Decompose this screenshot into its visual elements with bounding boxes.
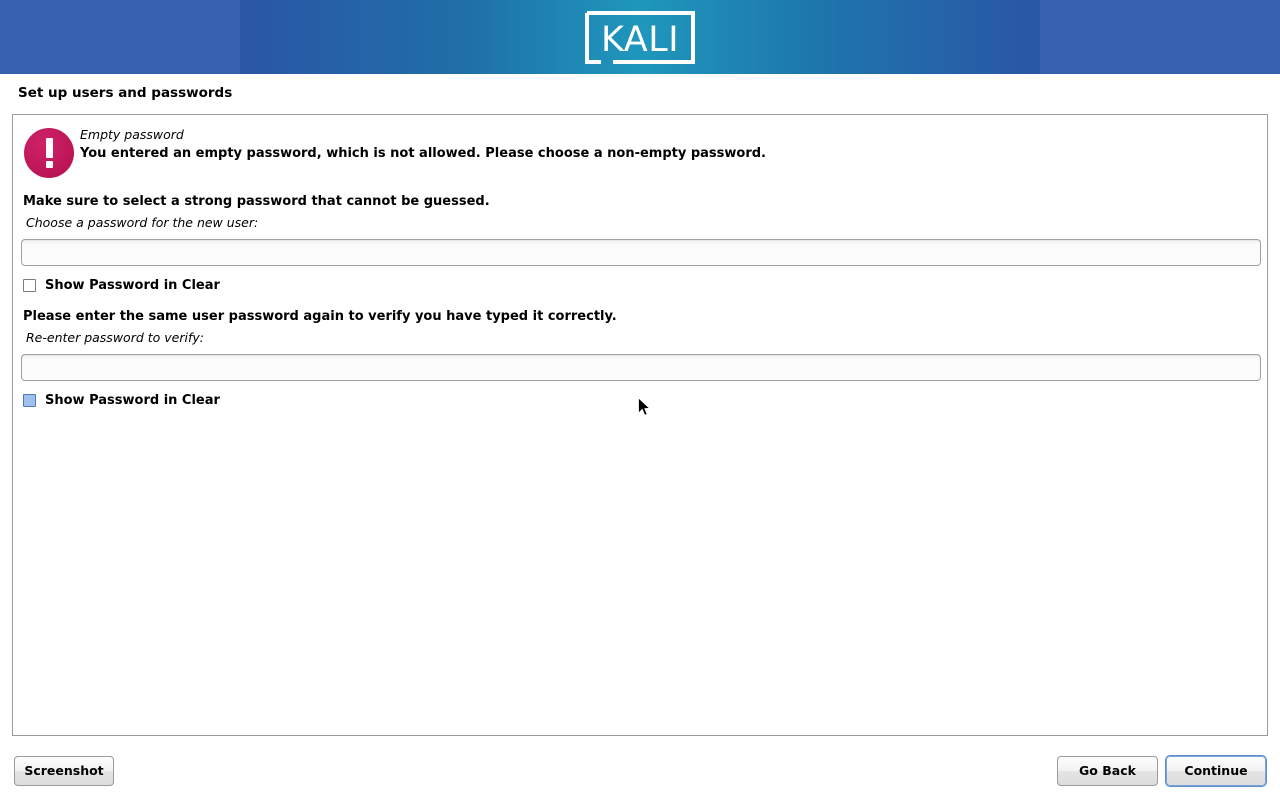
show-password-checkbox-1-label: Show Password in Clear bbox=[45, 278, 220, 293]
svg-text:KALI: KALI bbox=[601, 20, 679, 60]
error-notice: Empty password You entered an empty pass… bbox=[13, 115, 1267, 179]
page-title: Set up users and passwords bbox=[18, 85, 232, 101]
password-input[interactable] bbox=[21, 239, 1261, 266]
show-password-checkbox-2-label: Show Password in Clear bbox=[45, 393, 220, 408]
error-exclamation-icon bbox=[24, 128, 74, 178]
verify-password-input[interactable] bbox=[21, 354, 1261, 381]
main-content-panel: Empty password You entered an empty pass… bbox=[12, 114, 1268, 736]
error-message: You entered an empty password, which is … bbox=[80, 146, 766, 161]
continue-button[interactable]: Continue bbox=[1166, 756, 1266, 786]
show-password-in-clear-row-2[interactable]: Show Password in Clear bbox=[23, 392, 220, 408]
verify-heading: Please enter the same user password agai… bbox=[23, 309, 617, 324]
password-heading: Make sure to select a strong password th… bbox=[23, 194, 490, 209]
show-password-checkbox-1[interactable] bbox=[23, 279, 36, 292]
go-back-button[interactable]: Go Back bbox=[1057, 756, 1158, 786]
show-password-checkbox-2[interactable] bbox=[23, 394, 36, 407]
kali-logo: KALI bbox=[583, 9, 697, 66]
installer-banner: KALI bbox=[0, 0, 1280, 74]
error-title: Empty password bbox=[80, 127, 184, 142]
screenshot-button[interactable]: Screenshot bbox=[14, 756, 114, 786]
password-field-label: Choose a password for the new user: bbox=[26, 215, 258, 230]
verify-field-label: Re-enter password to verify: bbox=[26, 330, 204, 345]
show-password-in-clear-row-1[interactable]: Show Password in Clear bbox=[23, 277, 220, 293]
